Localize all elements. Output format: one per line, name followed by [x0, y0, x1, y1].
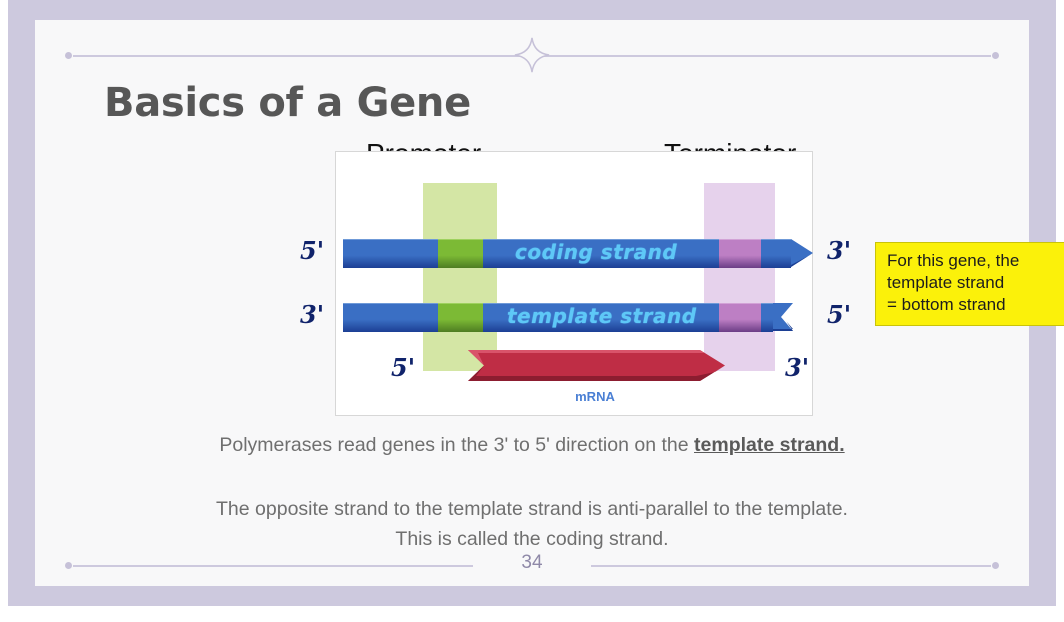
- coding-strand-promoter-segment: [438, 239, 483, 268]
- mrna-prime-left: 5': [391, 353, 415, 382]
- footer-rule-right: [591, 565, 991, 567]
- mrna-prime-right: 3': [785, 353, 809, 382]
- coding-strand-prime-left: 5': [300, 236, 324, 265]
- page-number: 34: [492, 552, 572, 574]
- bottom-divider: 34: [65, 556, 999, 574]
- template-strand-segment-left: [343, 303, 438, 332]
- body-line-1-emphasis: template strand.: [694, 434, 845, 456]
- template-strand-prime-right: 5': [827, 300, 851, 329]
- template-strand-handwritten-label: template strand: [507, 304, 697, 328]
- template-strand-segment-right: [761, 303, 773, 332]
- footer-dot-left: [65, 562, 72, 569]
- template-strand-arrow-left-icon: [771, 303, 793, 331]
- body-line-1-prefix: Polymerases read genes in the 3' to 5' d…: [219, 434, 694, 456]
- divider-rule-left: [73, 55, 541, 57]
- callout-line-3: = bottom strand: [887, 294, 1057, 316]
- coding-strand-prime-right: 3': [827, 236, 851, 265]
- divider-rule-right: [523, 55, 991, 57]
- slide-canvas: Basics of a Gene Promoter Terminator cod…: [35, 20, 1029, 586]
- coding-strand-terminator-segment: [719, 239, 761, 268]
- slide-frame: Basics of a Gene Promoter Terminator cod…: [8, 0, 1056, 606]
- template-strand-promoter-segment: [438, 303, 483, 332]
- body-line-1: Polymerases read genes in the 3' to 5' d…: [35, 434, 1029, 457]
- terminator-highlight-band: [704, 183, 775, 371]
- footer-dot-right: [992, 562, 999, 569]
- template-strand-terminator-segment: [719, 303, 761, 332]
- coding-strand-segment-left: [343, 239, 438, 268]
- coding-strand-handwritten-label: coding strand: [515, 240, 677, 264]
- callout-box: For this gene, the template strand = bot…: [875, 242, 1064, 326]
- mrna-arrow-icon: [468, 350, 725, 381]
- mrna-arrow: [468, 350, 725, 381]
- footer-rule-left: [73, 565, 473, 567]
- coding-strand-arrow-right-icon: [791, 239, 813, 267]
- mrna-text-label: mRNA: [535, 389, 655, 404]
- divider-dot-left: [65, 52, 72, 59]
- template-strand-prime-left: 3': [300, 300, 324, 329]
- body-line-3: This is called the coding strand.: [35, 528, 1029, 551]
- coding-strand-segment-right: [761, 239, 791, 268]
- callout-line-1: For this gene, the: [887, 250, 1057, 272]
- divider-dot-right: [992, 52, 999, 59]
- top-divider: [65, 46, 999, 64]
- page-title: Basics of a Gene: [104, 80, 471, 126]
- body-line-2: The opposite strand to the template stra…: [35, 498, 1029, 521]
- promoter-highlight-band: [423, 183, 497, 371]
- callout-line-2: template strand: [887, 272, 1057, 294]
- four-point-star-icon: [513, 36, 551, 74]
